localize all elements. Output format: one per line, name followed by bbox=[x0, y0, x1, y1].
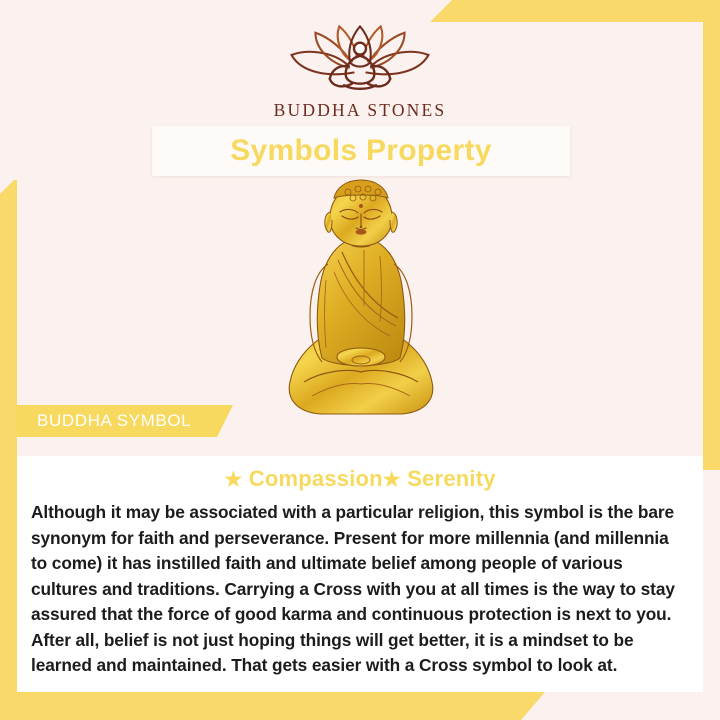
buddha-symbol-ribbon: BUDDHA SYMBOL bbox=[17, 405, 233, 437]
star-icon-right: ★ bbox=[383, 469, 401, 491]
content-body-text: Although it may be associated with a par… bbox=[31, 500, 689, 679]
subtitle-word-serenity: Serenity bbox=[407, 466, 495, 491]
buddha-illustration bbox=[268, 176, 454, 418]
decorative-top-right-band bbox=[430, 0, 720, 22]
subtitle-word-compassion: Compassion bbox=[249, 466, 383, 491]
decorative-bottom-band bbox=[0, 692, 545, 720]
decorative-left-band bbox=[0, 180, 17, 720]
brand-header: BUDDHA STONES bbox=[0, 20, 720, 121]
ribbon-label: BUDDHA SYMBOL bbox=[17, 411, 191, 431]
brand-name: BUDDHA STONES bbox=[0, 100, 720, 121]
content-subtitle: ★ Compassion★ Serenity bbox=[17, 466, 703, 492]
poster-canvas: BUDDHA STONES Symbols Property bbox=[0, 0, 720, 720]
page-title: Symbols Property bbox=[230, 134, 492, 168]
lotus-meditation-icon bbox=[280, 20, 440, 98]
content-panel: ★ Compassion★ Serenity Although it may b… bbox=[17, 456, 703, 692]
star-icon-left: ★ bbox=[224, 469, 242, 491]
title-banner: Symbols Property bbox=[152, 126, 570, 176]
